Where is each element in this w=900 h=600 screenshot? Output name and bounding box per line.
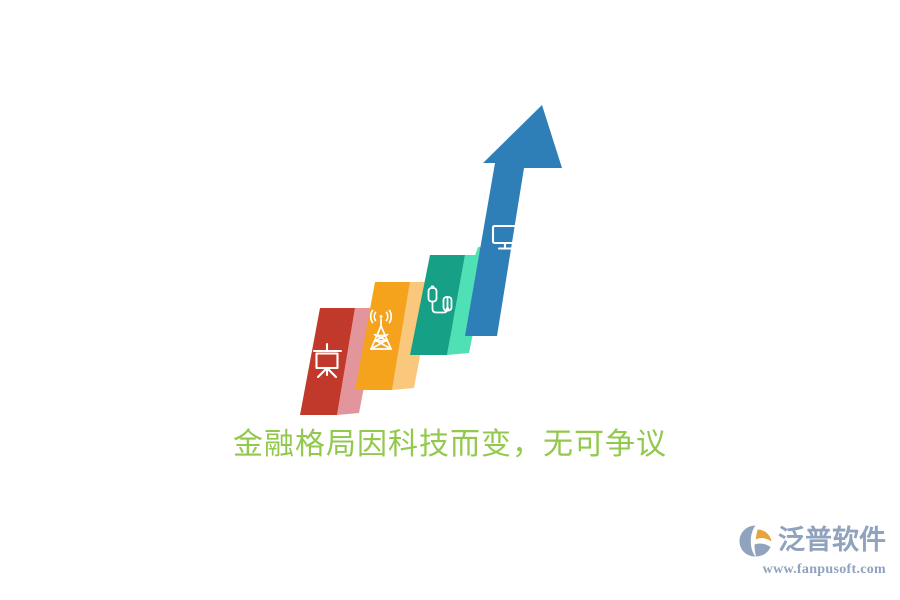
brand-url: www.fanpusoft.com [746,561,886,579]
brand-watermark: 泛普软件 www.fanpusoft.com [746,522,886,584]
growth-arrow-shape [465,105,562,336]
brand-name: 泛普软件 [778,526,886,556]
tagline-text: 金融格局因科技而变，无可争议 [0,424,900,466]
banner-canvas: 金融格局因科技而变，无可争议 泛普软件 www.fanpusoft.com [0,0,900,600]
fanpu-swoosh-logo-icon [738,524,774,558]
growth-arrow [465,105,562,336]
brand-row: 泛普软件 [746,522,886,560]
growth-illustration [0,0,900,600]
